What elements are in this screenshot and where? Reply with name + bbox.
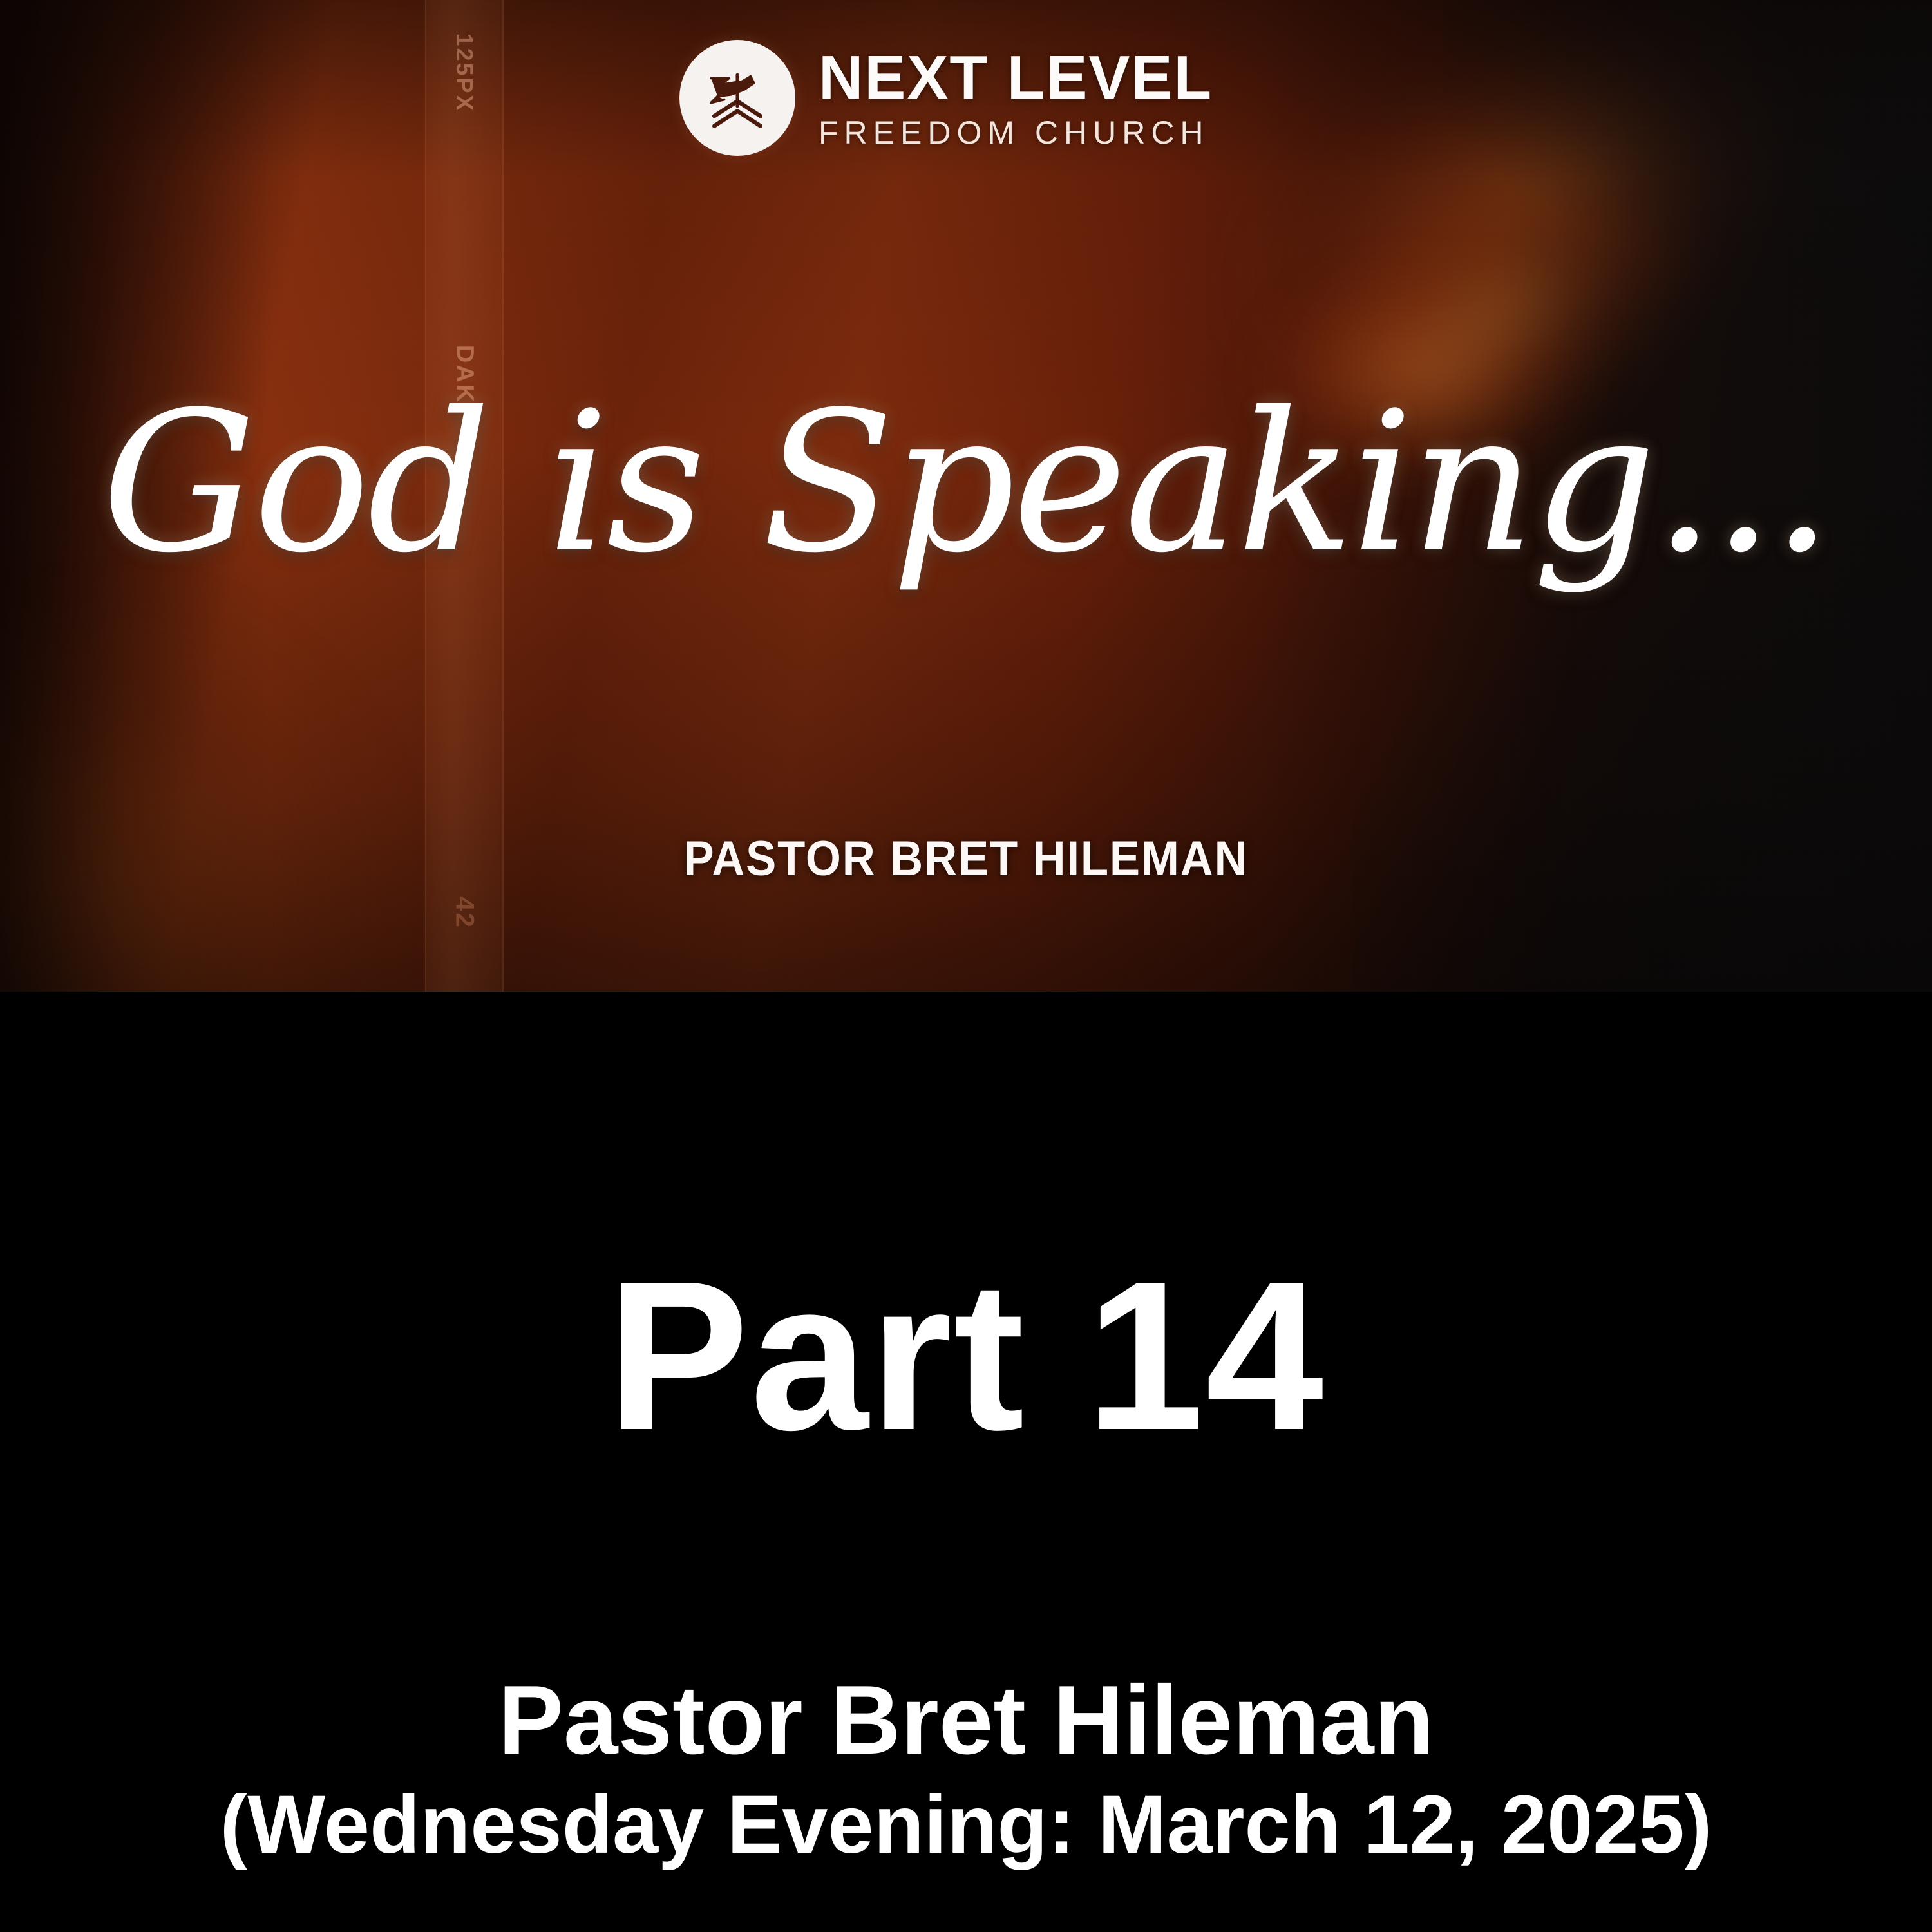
episode-occasion-date: (Wednesday Evening: March 12, 2025) [0,1784,1932,1866]
series-title: God is Speaking... [0,386,1932,580]
episode-speaker-name: Pastor Bret Hileman [0,1671,1932,1769]
church-name: NEXT LEVEL [819,47,1213,109]
episode-part-label: Part 14 [0,1249,1932,1462]
church-logo-text: NEXT LEVEL FREEDOM CHURCH [819,47,1213,149]
episode-info-panel: Part 14 Pastor Bret Hileman (Wednesday E… [0,992,1932,1932]
podcast-episode-cover: 125PX DAK 42 [0,0,1932,1932]
film-edge-marking-top: 125PX [451,33,478,112]
artwork-speaker-credit: PASTOR BRET HILEMAN [68,831,1864,887]
church-tagline: FREEDOM CHURCH [819,117,1213,149]
series-artwork: 125PX DAK 42 [0,0,1932,992]
dove-cross-chevron-logo-icon [679,40,795,156]
church-logo: NEXT LEVEL FREEDOM CHURCH [679,40,1213,156]
film-frame-number: 42 [450,896,479,929]
